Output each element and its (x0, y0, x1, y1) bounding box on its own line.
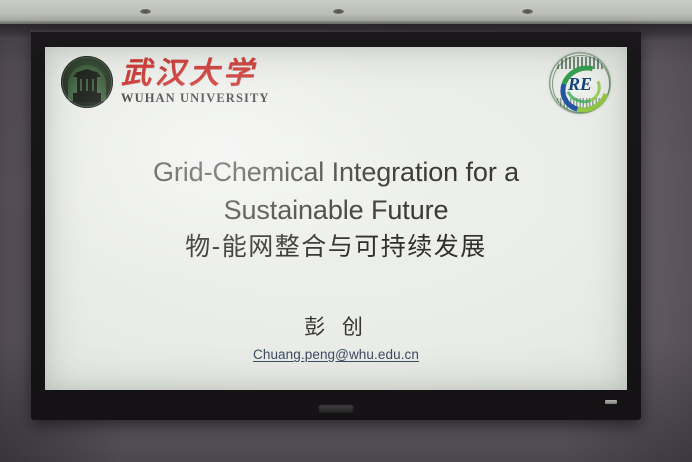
wuhan-university-crest-icon (61, 56, 113, 108)
ceiling-surface (0, 0, 692, 22)
slide-title-chinese: 物-能网整合与可持续发展 (75, 227, 597, 263)
university-name-cn: 武汉大学 (121, 59, 270, 89)
display-bezel: 武汉大学 WUHAN UNIVERSITY RE Grid-Chemical I… (31, 30, 641, 420)
university-logo: 武汉大学 WUHAN UNIVERSITY (61, 56, 270, 108)
slide-title-english: Grid-Chemical Integration for a Sustaina… (75, 153, 597, 230)
ceiling-light-icon (140, 9, 151, 14)
slide-title-line-2: Sustainable Future (75, 191, 597, 229)
bezel-top-highlight (31, 30, 641, 32)
presenter-name: 彭 创 (75, 311, 597, 341)
presentation-slide: 武汉大学 WUHAN UNIVERSITY RE Grid-Chemical I… (45, 47, 627, 390)
university-name-block: 武汉大学 WUHAN UNIVERSITY (121, 59, 270, 105)
renewable-energy-emblem-icon: RE (549, 52, 611, 114)
room-scene: 武汉大学 WUHAN UNIVERSITY RE Grid-Chemical I… (0, 0, 692, 462)
ceiling-light-icon (333, 9, 344, 14)
slide-title-line-1: Grid-Chemical Integration for a (75, 153, 597, 191)
ir-sensor-icon (605, 400, 617, 404)
display-brand-mark (319, 405, 353, 413)
university-name-en: WUHAN UNIVERSITY (121, 92, 270, 105)
presenter-email-link[interactable]: Chuang.peng@whu.edu.cn (75, 347, 597, 362)
emblem-monogram: RE (549, 74, 611, 95)
ceiling-light-icon (522, 9, 533, 14)
